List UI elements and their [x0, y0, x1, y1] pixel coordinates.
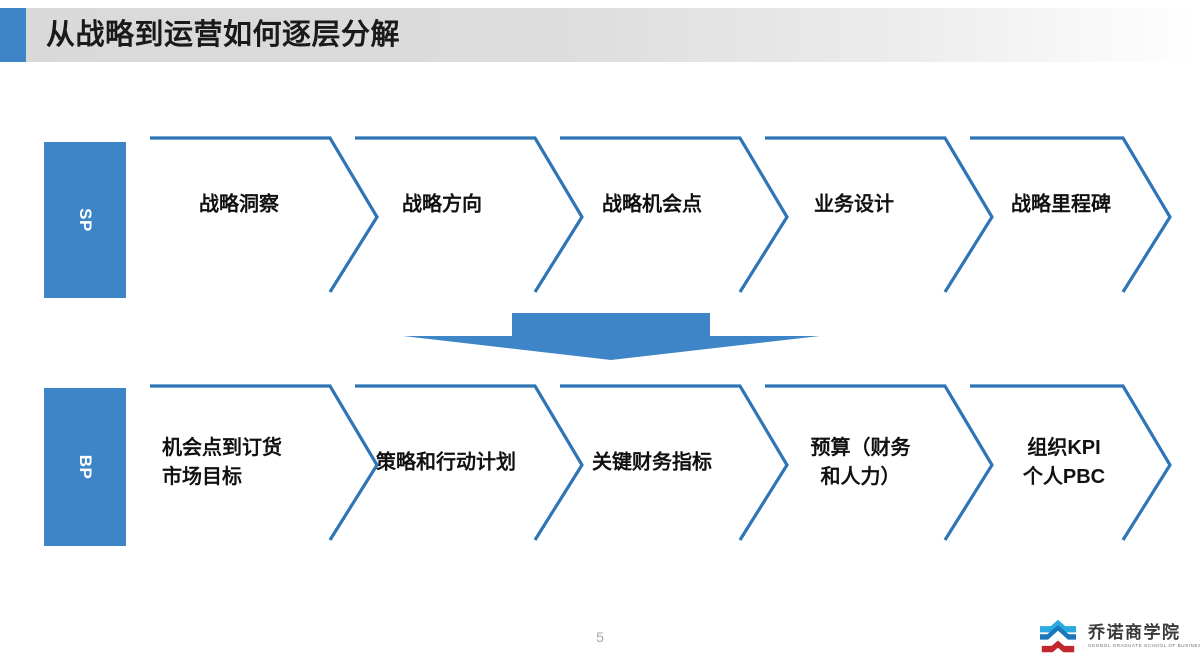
step-label-line: 市场目标 — [162, 463, 332, 492]
row-tab-sp: SP — [44, 142, 126, 298]
step-label-sp-4: 业务设计 — [778, 191, 930, 220]
diagram-shapes-layer — [0, 0, 1200, 662]
step-label-bp-3: 关键财务指标 — [572, 449, 732, 478]
page-title: 从战略到运营如何逐层分解 — [46, 8, 400, 62]
down-arrow-connector — [403, 313, 820, 360]
step-label-bp-4: 预算（财务 和人力） — [778, 434, 943, 492]
step-label-line: 战略里程碑 — [975, 191, 1147, 220]
logo-name-en: GEONOL GRADUATE SCHOOL OF BUSINESS — [1088, 643, 1200, 648]
header-accent-bar — [0, 8, 26, 62]
step-label-line: 关键财务指标 — [572, 449, 732, 478]
step-label-bp-2: 策略和行动计划 — [352, 449, 540, 478]
step-label-line: 机会点到订货 — [162, 434, 332, 463]
step-label-bp-1: 机会点到订货 市场目标 — [162, 434, 332, 492]
step-label-sp-5: 战略里程碑 — [975, 191, 1147, 220]
step-label-line: 预算（财务 — [778, 434, 943, 463]
step-label-sp-3: 战略机会点 — [566, 191, 738, 220]
step-label-line: 战略方向 — [362, 191, 522, 220]
page-number: 5 — [0, 629, 1200, 645]
step-label-line: 个人PBC — [985, 463, 1143, 492]
brand-logo: 乔诺商学院 GEONOL GRADUATE SCHOOL OF BUSINESS — [1036, 616, 1188, 656]
row-tab-bp: BP — [44, 388, 126, 546]
step-label-sp-1: 战略洞察 — [160, 191, 318, 220]
step-label-bp-5: 组织KPI 个人PBC — [985, 434, 1143, 492]
step-label-line: 战略洞察 — [160, 191, 318, 220]
logo-wordmark: 乔诺商学院 GEONOL GRADUATE SCHOOL OF BUSINESS — [1088, 624, 1200, 649]
step-label-line: 策略和行动计划 — [352, 449, 540, 478]
step-label-sp-2: 战略方向 — [362, 191, 522, 220]
step-label-line: 业务设计 — [778, 191, 930, 220]
row-tab-bp-label: BP — [75, 455, 95, 480]
row-tab-sp-label: SP — [75, 208, 95, 232]
logo-name-cn: 乔诺商学院 — [1088, 624, 1200, 642]
logo-mark-icon — [1036, 618, 1080, 654]
step-label-line: 战略机会点 — [566, 191, 738, 220]
step-label-line: 和人力） — [778, 463, 943, 492]
step-label-line: 组织KPI — [985, 434, 1143, 463]
